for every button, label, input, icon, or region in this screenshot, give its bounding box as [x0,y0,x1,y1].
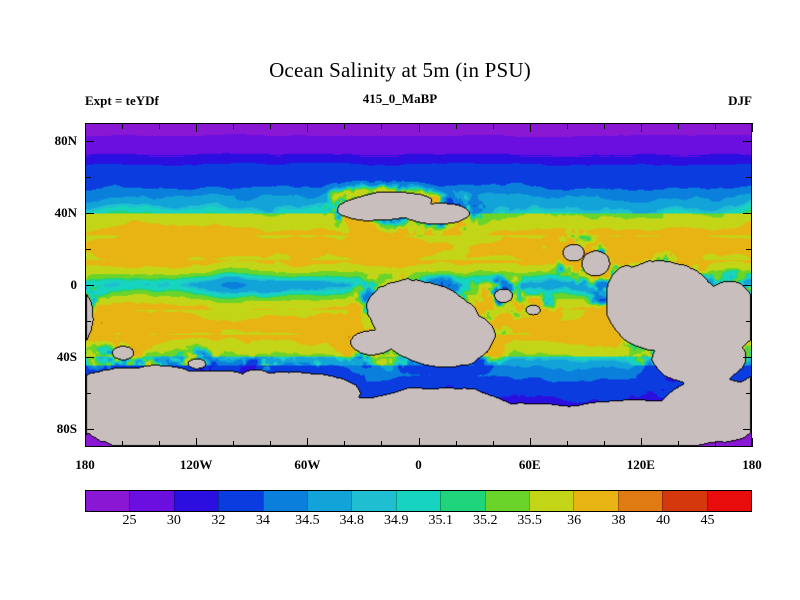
x-tick-top [641,123,642,132]
x-axis-label-120E: 120E [627,457,655,473]
colorbar-swatch-0 [86,491,129,511]
colorbar-tick-35.2: 35.2 [473,513,498,529]
x-tick-bottom [307,438,308,447]
x-axis-label-120W: 120W [180,457,213,473]
x-tick-bottom [604,441,605,447]
colorbar-tick-38: 38 [612,513,626,529]
season-label: DJF [0,93,752,109]
colorbar-swatch-3 [218,491,262,511]
page-title: Ocean Salinity at 5m (in PSU) [0,58,800,83]
x-tick-top [530,123,531,132]
colorbar-swatch-1 [129,491,173,511]
y-tick-right [746,393,752,394]
y-tick-left [85,213,94,214]
colorbar-tick-30: 30 [167,513,181,529]
x-axis-label-60W: 60W [294,457,320,473]
y-tick-left [85,429,94,430]
colorbar-swatch-9 [485,491,529,511]
y-axis-label-80S: 80S [0,421,77,437]
colorbar-tick-25: 25 [122,513,136,529]
x-tick-bottom [85,438,86,447]
colorbar-tick-34.8: 34.8 [340,513,365,529]
x-tick-bottom [122,441,123,447]
y-tick-left [85,285,94,286]
x-tick-top [122,123,123,129]
x-tick-top [567,123,568,129]
y-axis-label-40S: 40S [0,349,77,365]
x-axis-label-0: 0 [415,457,422,473]
x-tick-bottom [381,441,382,447]
colorbar-tick-34.9: 34.9 [384,513,409,529]
colorbar-tick-34.5: 34.5 [295,513,320,529]
x-tick-bottom [530,438,531,447]
y-tick-left [85,321,91,322]
colorbar-tick-45: 45 [701,513,715,529]
x-tick-top [456,123,457,129]
colorbar-swatch-10 [529,491,573,511]
x-tick-bottom [344,441,345,447]
colorbar-tick-36: 36 [567,513,581,529]
x-tick-bottom [567,441,568,447]
x-tick-top [159,123,160,129]
colorbar-tick-35.1: 35.1 [428,513,453,529]
x-tick-top [85,123,86,132]
colorbar-tick-35.5: 35.5 [517,513,542,529]
x-tick-bottom [715,441,716,447]
colorbar-swatch-4 [263,491,307,511]
x-tick-bottom [752,438,753,447]
colorbar-swatch-11 [573,491,617,511]
y-tick-left [85,177,91,178]
x-tick-bottom [493,441,494,447]
colorbar-tick-32: 32 [211,513,225,529]
y-tick-left [85,393,91,394]
x-axis-label-60E: 60E [519,457,541,473]
y-tick-right [743,213,752,214]
y-axis-label-80N: 80N [0,133,77,149]
y-tick-right [746,177,752,178]
x-axis-label-180: 180 [742,457,762,473]
x-tick-bottom [270,441,271,447]
y-tick-right [746,321,752,322]
colorbar-swatch-2 [174,491,218,511]
y-tick-right [743,357,752,358]
y-tick-left [85,357,94,358]
x-tick-top [752,123,753,132]
x-tick-bottom [678,441,679,447]
x-axis-label-180: 180 [75,457,95,473]
colorbar-swatch-14 [707,491,751,511]
x-tick-top [196,123,197,132]
y-tick-right [746,249,752,250]
colorbar-swatch-5 [307,491,351,511]
figure-canvas: Ocean Salinity at 5m (in PSU) 415_0_MaBP… [0,0,800,600]
x-tick-bottom [159,441,160,447]
x-tick-bottom [419,438,420,447]
x-tick-top [344,123,345,129]
x-tick-top [715,123,716,129]
y-axis-label-40N: 40N [0,205,77,221]
x-tick-top [307,123,308,132]
y-tick-right [743,285,752,286]
colorbar-swatch-13 [662,491,706,511]
salinity-contour-map [86,124,751,446]
x-tick-top [381,123,382,129]
y-axis-label-0: 0 [0,277,77,293]
x-tick-top [270,123,271,129]
colorbar-swatch-8 [440,491,484,511]
y-tick-left [85,249,91,250]
x-tick-bottom [641,438,642,447]
colorbar-tick-labels: 2530323434.534.834.935.135.235.536384045 [85,513,752,535]
y-tick-left [85,141,94,142]
colorbar [85,490,752,512]
colorbar-swatch-12 [618,491,662,511]
y-tick-right [743,141,752,142]
x-tick-bottom [233,441,234,447]
x-tick-top [493,123,494,129]
colorbar-tick-34: 34 [256,513,270,529]
x-tick-top [604,123,605,129]
x-tick-top [419,123,420,132]
colorbar-swatch-7 [396,491,440,511]
colorbar-tick-40: 40 [656,513,670,529]
y-tick-right [743,429,752,430]
x-tick-bottom [196,438,197,447]
x-tick-bottom [456,441,457,447]
x-tick-top [233,123,234,129]
x-tick-top [678,123,679,129]
colorbar-swatch-6 [351,491,395,511]
map-plot-area [85,123,752,447]
